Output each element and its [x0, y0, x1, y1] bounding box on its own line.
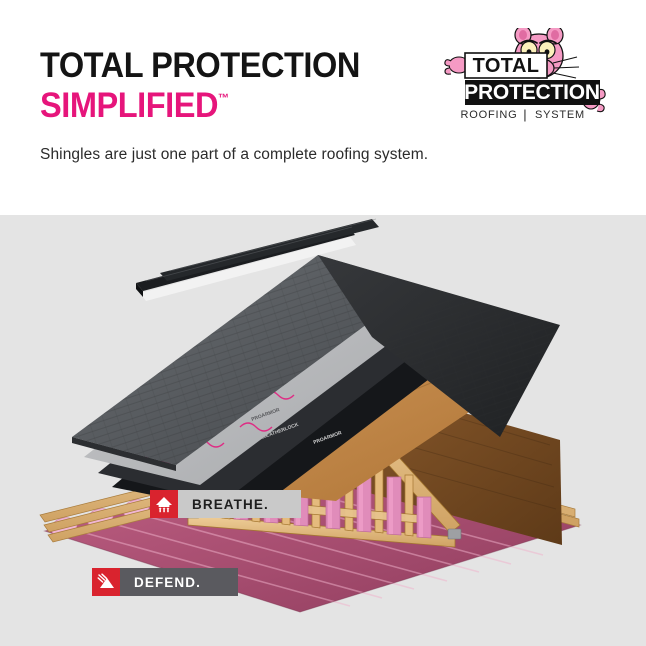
logo-word-system: SYSTEM [535, 109, 585, 121]
headline-block: TOTAL PROTECTION SIMPLIFIED™ [40, 48, 430, 124]
header-section: TOTAL PROTECTION SIMPLIFIED™ Shingles ar… [0, 0, 646, 215]
defend-water-shed-roof-icon [92, 568, 120, 596]
page-root: TOTAL PROTECTION SIMPLIFIED™ Shingles ar… [0, 0, 646, 646]
subheadline: Shingles are just one part of a complete… [40, 145, 428, 165]
logo-word-total: TOTAL [473, 55, 540, 77]
logo-word-divider: | [523, 107, 526, 122]
breathe-vent-roof-icon [150, 490, 178, 518]
page-title-line-2-wrap: SIMPLIFIED™ [40, 88, 403, 124]
callout-defend[interactable]: DEFEND. [92, 568, 238, 596]
diagram-panel: PROARMOR PROARMOR PROARMOR PROARMOR WEA [0, 215, 646, 646]
callout-breathe-label: BREATHE. [178, 490, 301, 518]
callout-breathe[interactable]: BREATHE. [150, 490, 301, 518]
trademark-symbol: ™ [218, 91, 229, 105]
logo-word-roofing: ROOFING [461, 109, 518, 121]
logo-word-protection: PROTECTION [464, 81, 600, 104]
page-title-line-1: TOTAL PROTECTION [40, 48, 403, 84]
page-title-line-2: SIMPLIFIED [40, 86, 218, 125]
callout-defend-label: DEFEND. [120, 568, 238, 596]
total-protection-logo: TOTAL PROTECTION ROOFING | SYSTEM [443, 28, 613, 128]
